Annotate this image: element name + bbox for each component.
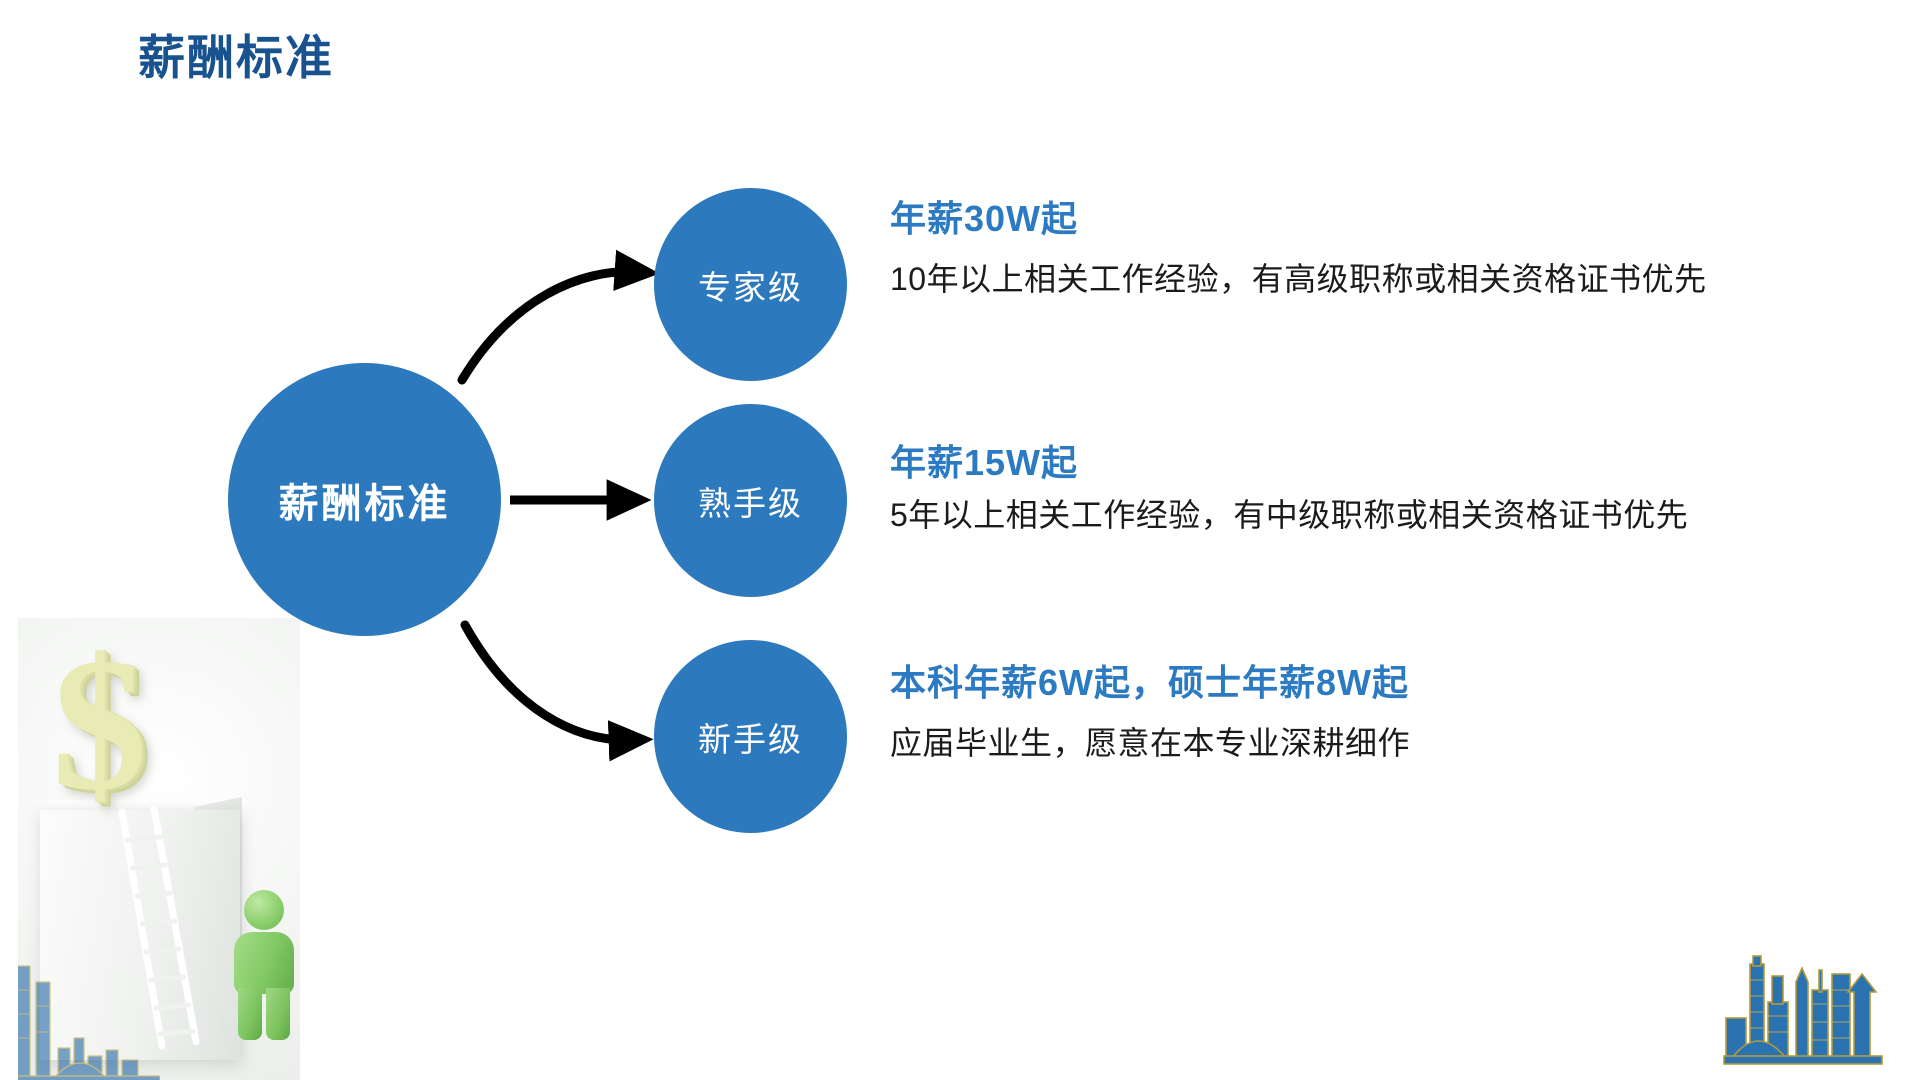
detail-body-text: 10年以上相关工作经验，有高级职称或相关资格证书优先 (890, 259, 1890, 301)
person-head (244, 890, 284, 930)
level-node-label: 专家级 (698, 261, 803, 309)
center-node-label: 薪酬标准 (279, 471, 451, 529)
arrow-to-beginner (465, 625, 632, 740)
person-body (234, 932, 294, 994)
level-node-skilled[interactable]: 熟手级 (654, 404, 847, 597)
detail-block-beginner: 本科年薪6W起，硕士年薪8W起 应届毕业生，愿意在本专业深耕细作 (890, 660, 1890, 765)
detail-block-expert: 年薪30W起 10年以上相关工作经验，有高级职称或相关资格证书优先 (890, 196, 1890, 301)
photo-city-skyline-icon (18, 952, 160, 1080)
dollar-ladder-photo: $ (18, 618, 300, 1080)
city-skyline-icon (1720, 946, 1888, 1066)
detail-heading: 年薪30W起 (890, 196, 1890, 241)
person-leg-left (238, 988, 262, 1040)
detail-heading: 本科年薪6W起，硕士年薪8W起 (890, 660, 1890, 705)
detail-heading: 年薪15W起 (890, 440, 1890, 485)
level-node-expert[interactable]: 专家级 (654, 188, 847, 381)
detail-body-text: 5年以上相关工作经验，有中级职称或相关资格证书优先 (890, 495, 1890, 537)
detail-block-skilled: 年薪15W起 5年以上相关工作经验，有中级职称或相关资格证书优先 (890, 440, 1890, 537)
dollar-sign-icon: $ (52, 640, 147, 810)
person-figure-icon (230, 890, 296, 1040)
level-node-label: 新手级 (698, 713, 803, 761)
detail-body-text: 应届毕业生，愿意在本专业深耕细作 (890, 723, 1890, 765)
arrow-to-expert (462, 272, 638, 380)
page-title: 薪酬标准 (138, 32, 334, 84)
person-leg-right (266, 988, 290, 1040)
photo-background: $ (18, 618, 300, 1080)
slide-canvas: 薪酬标准 $ (0, 0, 1918, 1080)
center-node-salary-standard[interactable]: 薪酬标准 (228, 363, 501, 636)
level-node-label: 熟手级 (698, 477, 803, 525)
level-node-beginner[interactable]: 新手级 (654, 640, 847, 833)
